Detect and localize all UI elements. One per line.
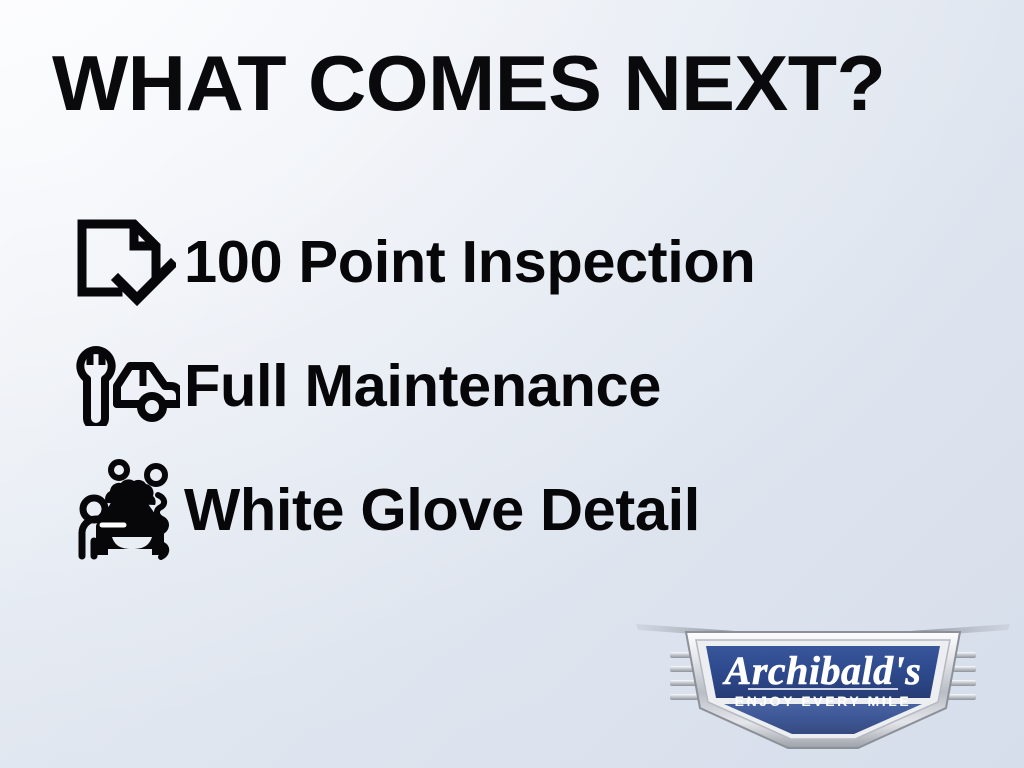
car-wash-icon — [72, 459, 184, 561]
list-item: 100 Point Inspection — [72, 200, 972, 324]
slide-canvas: WHAT COMES NEXT? 100 Point Inspection — [0, 0, 1024, 768]
logo-brand-text: Archibald's — [722, 648, 922, 693]
logo-tagline-text: ENJOY EVERY MILE — [735, 693, 912, 709]
document-check-icon — [72, 214, 184, 310]
list-item-label: White Glove Detail — [184, 481, 700, 540]
archibalds-logo: Archibald's ENJOY EVERY MILE — [628, 612, 1018, 762]
page-title: WHAT COMES NEXT? — [52, 44, 1015, 122]
list-item-label: Full Maintenance — [184, 357, 661, 416]
list-item: White Glove Detail — [72, 448, 972, 572]
list-item-label: 100 Point Inspection — [184, 233, 755, 292]
feature-list: 100 Point Inspection Full — [72, 200, 972, 572]
list-item: Full Maintenance — [72, 324, 972, 448]
wrench-car-icon — [72, 346, 184, 426]
